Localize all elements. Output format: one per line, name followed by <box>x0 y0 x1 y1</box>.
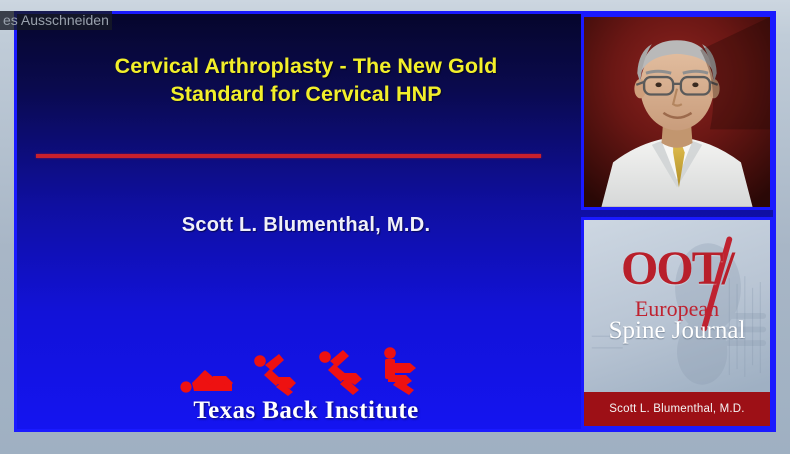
tbi-figure-lying-icon <box>180 356 242 396</box>
tbi-figure-row <box>37 346 575 396</box>
tbi-figure-seated-icon <box>312 348 370 396</box>
portrait-panel <box>581 14 773 210</box>
cut-context-menu-overlay[interactable]: es Ausschneiden <box>0 11 112 30</box>
tbi-figure-rising-icon <box>248 350 306 396</box>
slide-title: Cervical Arthroplasty - The New Gold Sta… <box>37 52 575 109</box>
slide-title-line-2: Standard for Cervical HNP <box>37 80 575 108</box>
cut-overlay-label: es Ausschneiden <box>3 12 109 28</box>
journal-caption-bar: Scott L. Blumenthal, M.D. <box>584 392 770 426</box>
tbi-figure-standing-icon <box>376 346 432 396</box>
journal-caption-text: Scott L. Blumenthal, M.D. <box>609 403 744 415</box>
presenter-name: Scott L. Blumenthal, M.D. <box>37 214 575 237</box>
title-divider-rule <box>36 154 541 158</box>
slide-title-line-1: Cervical Arthroplasty - The New Gold <box>37 52 575 80</box>
tbi-wordmark: Texas Back Institute <box>37 397 575 425</box>
texas-back-institute-logo: Texas Back Institute <box>37 346 575 425</box>
portrait-photo <box>584 17 770 207</box>
video-player-frame[interactable]: Cervical Arthroplasty - The New Gold Sta… <box>14 11 776 432</box>
european-spine-journal-panel: OOT/ European Spine Journal Scott L. Blu… <box>581 217 773 429</box>
application-window: Cervical Arthroplasty - The New Gold Sta… <box>0 0 790 454</box>
